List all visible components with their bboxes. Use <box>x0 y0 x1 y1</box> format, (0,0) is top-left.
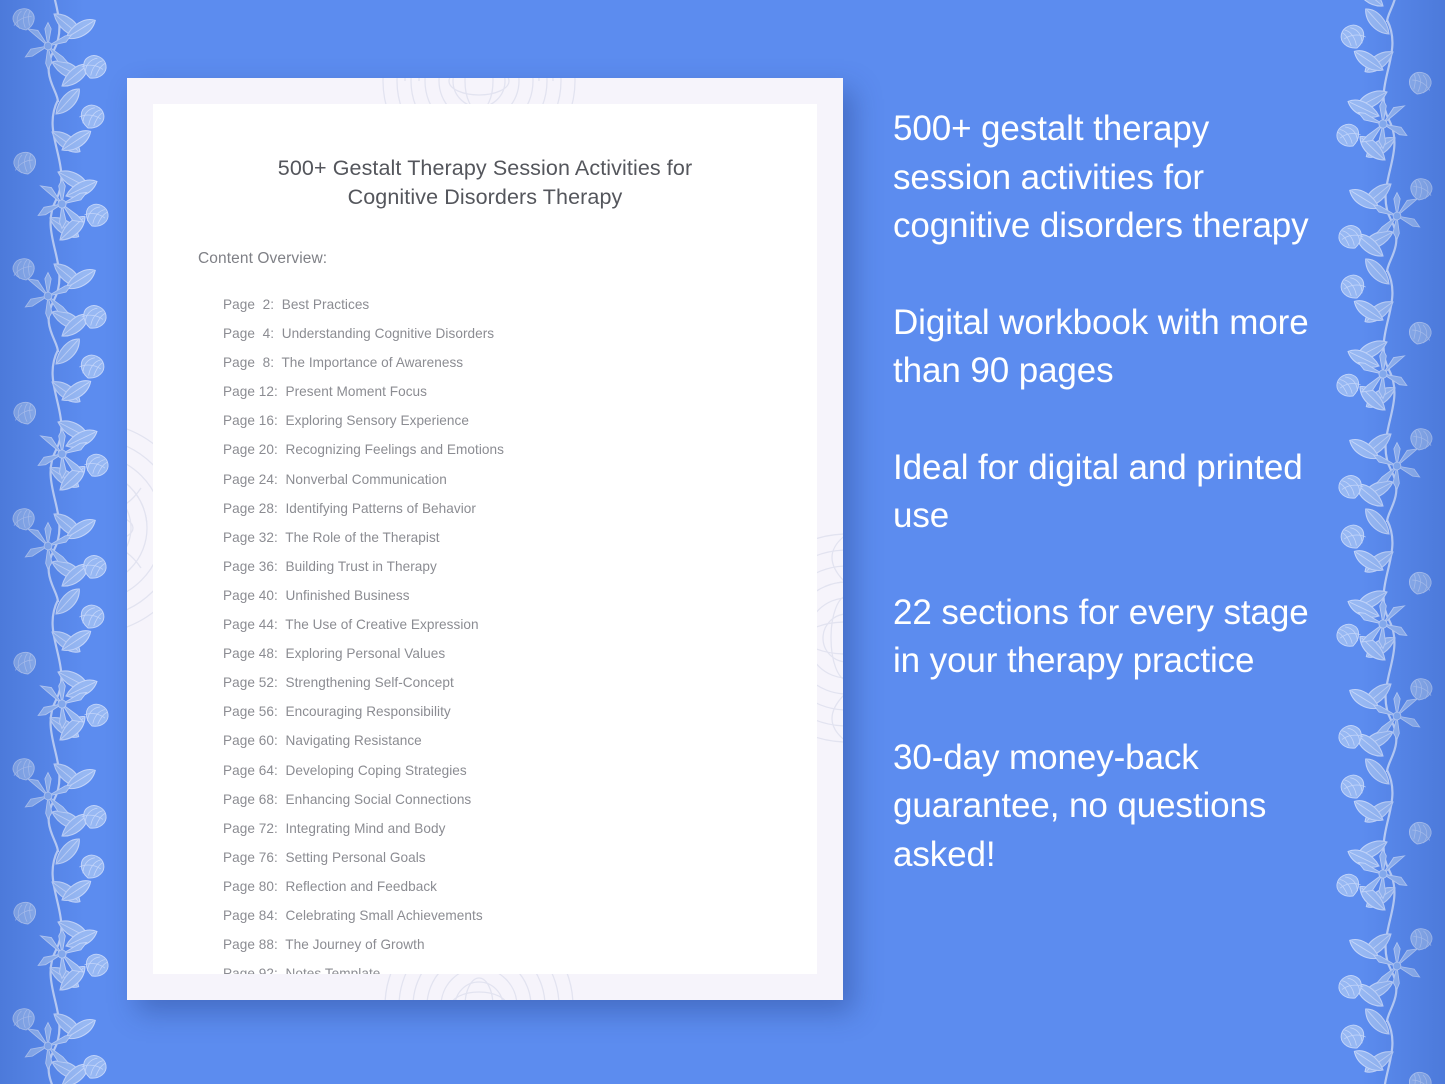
floral-border-right-icon <box>1325 0 1445 1084</box>
toc-item-page: Page 16: <box>223 413 278 428</box>
toc-item-page: Page 68: <box>223 792 278 807</box>
toc-item-page: Page 64: <box>223 763 278 778</box>
toc-item-page: Page 36: <box>223 559 278 574</box>
toc-item-title: Notes Template <box>278 966 381 974</box>
toc-item-page: Page 84: <box>223 908 278 923</box>
toc-item: Page 68: Enhancing Social Connections <box>223 785 817 814</box>
toc-item: Page 44: The Use of Creative Expression <box>223 610 817 639</box>
toc-item-page: Page 28: <box>223 501 278 516</box>
toc-item: Page 84: Celebrating Small Achievements <box>223 901 817 930</box>
toc-item-title: Present Moment Focus <box>278 384 427 399</box>
page-title-line-1: 500+ Gestalt Therapy Session Activities … <box>278 156 692 180</box>
table-of-contents: Page 2: Best PracticesPage 4: Understand… <box>153 268 817 974</box>
toc-item-title: Reflection and Feedback <box>278 879 437 894</box>
content-overview-label: Content Overview: <box>153 212 817 268</box>
toc-item-title: Navigating Resistance <box>278 733 422 748</box>
toc-item-page: Page 48: <box>223 646 278 661</box>
toc-item-page: Page 60: <box>223 733 278 748</box>
toc-item-title: Identifying Patterns of Behavior <box>278 501 476 516</box>
toc-item: Page 40: Unfinished Business <box>223 581 817 610</box>
toc-item-page: Page 92: <box>223 966 278 974</box>
toc-item-page: Page 2: <box>223 297 274 312</box>
toc-item: Page 88: The Journey of Growth <box>223 930 817 959</box>
marketing-point: Ideal for digital and printed use <box>893 444 1313 541</box>
toc-item-page: Page 72: <box>223 821 278 836</box>
toc-item-page: Page 20: <box>223 442 278 457</box>
toc-item: Page 8: The Importance of Awareness <box>223 348 817 377</box>
toc-item-page: Page 32: <box>223 530 278 545</box>
toc-item: Page 56: Encouraging Responsibility <box>223 697 817 726</box>
document-page: 500+ Gestalt Therapy Session Activities … <box>153 104 817 974</box>
promo-graphic: 500+ Gestalt Therapy Session Activities … <box>0 0 1445 1084</box>
toc-item: Page 16: Exploring Sensory Experience <box>223 406 817 435</box>
toc-item-title: Best Practices <box>274 297 369 312</box>
marketing-point: Digital workbook with more than 90 pages <box>893 299 1313 396</box>
toc-item: Page 12: Present Moment Focus <box>223 377 817 406</box>
toc-item: Page 20: Recognizing Feelings and Emotio… <box>223 435 817 464</box>
toc-item-title: The Journey of Growth <box>278 937 425 952</box>
toc-item-title: Strengthening Self-Concept <box>278 675 454 690</box>
toc-item: Page 52: Strengthening Self-Concept <box>223 668 817 697</box>
toc-item-page: Page 80: <box>223 879 278 894</box>
toc-item: Page 32: The Role of the Therapist <box>223 523 817 552</box>
marketing-point: 500+ gestalt therapy session activities … <box>893 105 1313 251</box>
toc-item-title: Celebrating Small Achievements <box>278 908 483 923</box>
floral-border-left-icon <box>0 0 120 1084</box>
toc-item-page: Page 56: <box>223 704 278 719</box>
toc-item-title: The Role of the Therapist <box>278 530 440 545</box>
toc-item-title: Nonverbal Communication <box>278 472 447 487</box>
toc-item: Page 64: Developing Coping Strategies <box>223 756 817 785</box>
toc-item: Page 36: Building Trust in Therapy <box>223 552 817 581</box>
marketing-point: 30-day money-back guarantee, no question… <box>893 734 1313 880</box>
toc-item-page: Page 88: <box>223 937 278 952</box>
toc-item-title: Building Trust in Therapy <box>278 559 437 574</box>
toc-item: Page 76: Setting Personal Goals <box>223 843 817 872</box>
toc-item: Page 92: Notes Template <box>223 959 817 974</box>
page-title: 500+ Gestalt Therapy Session Activities … <box>153 104 817 212</box>
toc-item: Page 2: Best Practices <box>223 290 817 319</box>
toc-item: Page 24: Nonverbal Communication <box>223 465 817 494</box>
toc-item-title: Exploring Sensory Experience <box>278 413 469 428</box>
toc-item-page: Page 8: <box>223 355 274 370</box>
toc-item-page: Page 76: <box>223 850 278 865</box>
toc-item: Page 48: Exploring Personal Values <box>223 639 817 668</box>
toc-item-title: Understanding Cognitive Disorders <box>274 326 494 341</box>
toc-item: Page 80: Reflection and Feedback <box>223 872 817 901</box>
toc-item-page: Page 12: <box>223 384 278 399</box>
toc-item-page: Page 24: <box>223 472 278 487</box>
toc-item-page: Page 52: <box>223 675 278 690</box>
marketing-point: 22 sections for every stage in your ther… <box>893 589 1313 686</box>
toc-item-title: Enhancing Social Connections <box>278 792 471 807</box>
toc-item-page: Page 40: <box>223 588 278 603</box>
toc-item: Page 28: Identifying Patterns of Behavio… <box>223 494 817 523</box>
toc-item-title: The Use of Creative Expression <box>278 617 479 632</box>
document-card[interactable]: 500+ Gestalt Therapy Session Activities … <box>127 78 843 1000</box>
toc-item-title: Unfinished Business <box>278 588 410 603</box>
toc-item-title: Developing Coping Strategies <box>278 763 467 778</box>
toc-item-page: Page 44: <box>223 617 278 632</box>
toc-item: Page 4: Understanding Cognitive Disorder… <box>223 319 817 348</box>
floral-border-right-shading <box>1325 0 1445 1084</box>
toc-item-title: Encouraging Responsibility <box>278 704 451 719</box>
toc-item: Page 60: Navigating Resistance <box>223 726 817 755</box>
toc-item-page: Page 4: <box>223 326 274 341</box>
toc-item-title: Recognizing Feelings and Emotions <box>278 442 504 457</box>
toc-item-title: Setting Personal Goals <box>278 850 426 865</box>
floral-border-left-shading <box>0 0 120 1084</box>
page-title-line-2: Cognitive Disorders Therapy <box>348 185 623 209</box>
toc-item: Page 72: Integrating Mind and Body <box>223 814 817 843</box>
marketing-points: 500+ gestalt therapy session activities … <box>893 105 1313 879</box>
toc-item-title: Integrating Mind and Body <box>278 821 446 836</box>
toc-item-title: The Importance of Awareness <box>274 355 463 370</box>
toc-item-title: Exploring Personal Values <box>278 646 445 661</box>
